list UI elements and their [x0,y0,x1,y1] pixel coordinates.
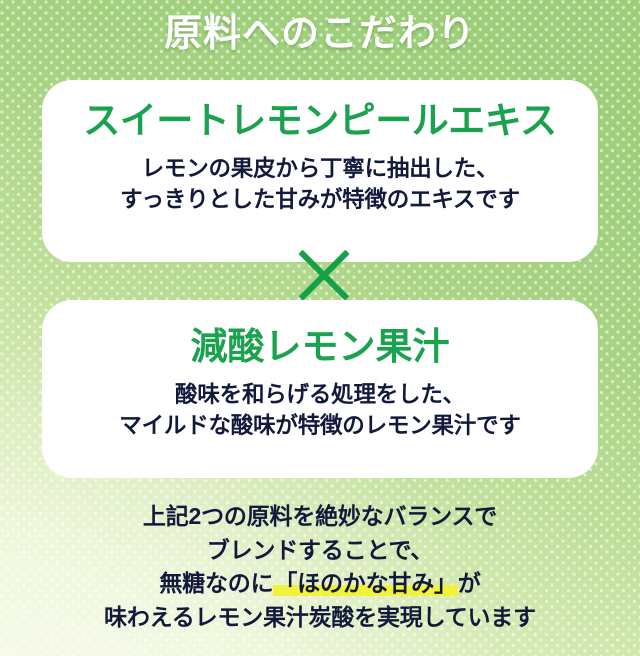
card-body: 酸味を和らげる処理をした、 マイルドな酸味が特徴のレモン果汁です [42,379,598,443]
summary-line-1: 上記2つの原料を絶妙なバランスで [0,500,640,534]
page-title: 原料へのこだわり [0,14,640,56]
ingredient-card-sweet-lemon-peel-extract: スイートレモンピールエキス レモンの果皮から丁寧に抽出した、 すっきりとした甘み… [42,80,598,262]
card-heading: 減酸レモン果汁 [42,326,598,369]
ingredient-card-reduced-acid-lemon-juice: 減酸レモン果汁 酸味を和らげる処理をした、 マイルドな酸味が特徴のレモン果汁です [42,300,598,478]
summary-text: 上記2つの原料を絶妙なバランスで ブレンドすることで、 無糖なのに「ほのかな甘み… [0,500,640,634]
card-body: レモンの果皮から丁寧に抽出した、 すっきりとした甘みが特徴のエキスです [42,153,598,217]
multiply-x-icon [297,248,351,302]
summary-highlight: 「ほのかな甘み」 [273,570,457,596]
card-heading: スイートレモンピールエキス [42,100,598,143]
card-body-line: 酸味を和らげる処理をした、 [42,379,598,411]
card-body-line: マイルドな酸味が特徴のレモン果汁です [42,410,598,442]
summary-line-2: ブレンドすることで、 [0,534,640,568]
ingredient-infographic: 原料へのこだわり スイートレモンピールエキス レモンの果皮から丁寧に抽出した、 … [0,0,640,656]
summary-line-3-suffix: が [458,570,481,596]
card-body-line: レモンの果皮から丁寧に抽出した、 [42,153,598,185]
summary-line-3: 無糖なのに「ほのかな甘み」が [0,567,640,601]
summary-line-3-prefix: 無糖なのに [159,570,273,596]
summary-line-4: 味わえるレモン果汁炭酸を実現しています [0,601,640,635]
card-body-line: すっきりとした甘みが特徴のエキスです [42,184,598,216]
